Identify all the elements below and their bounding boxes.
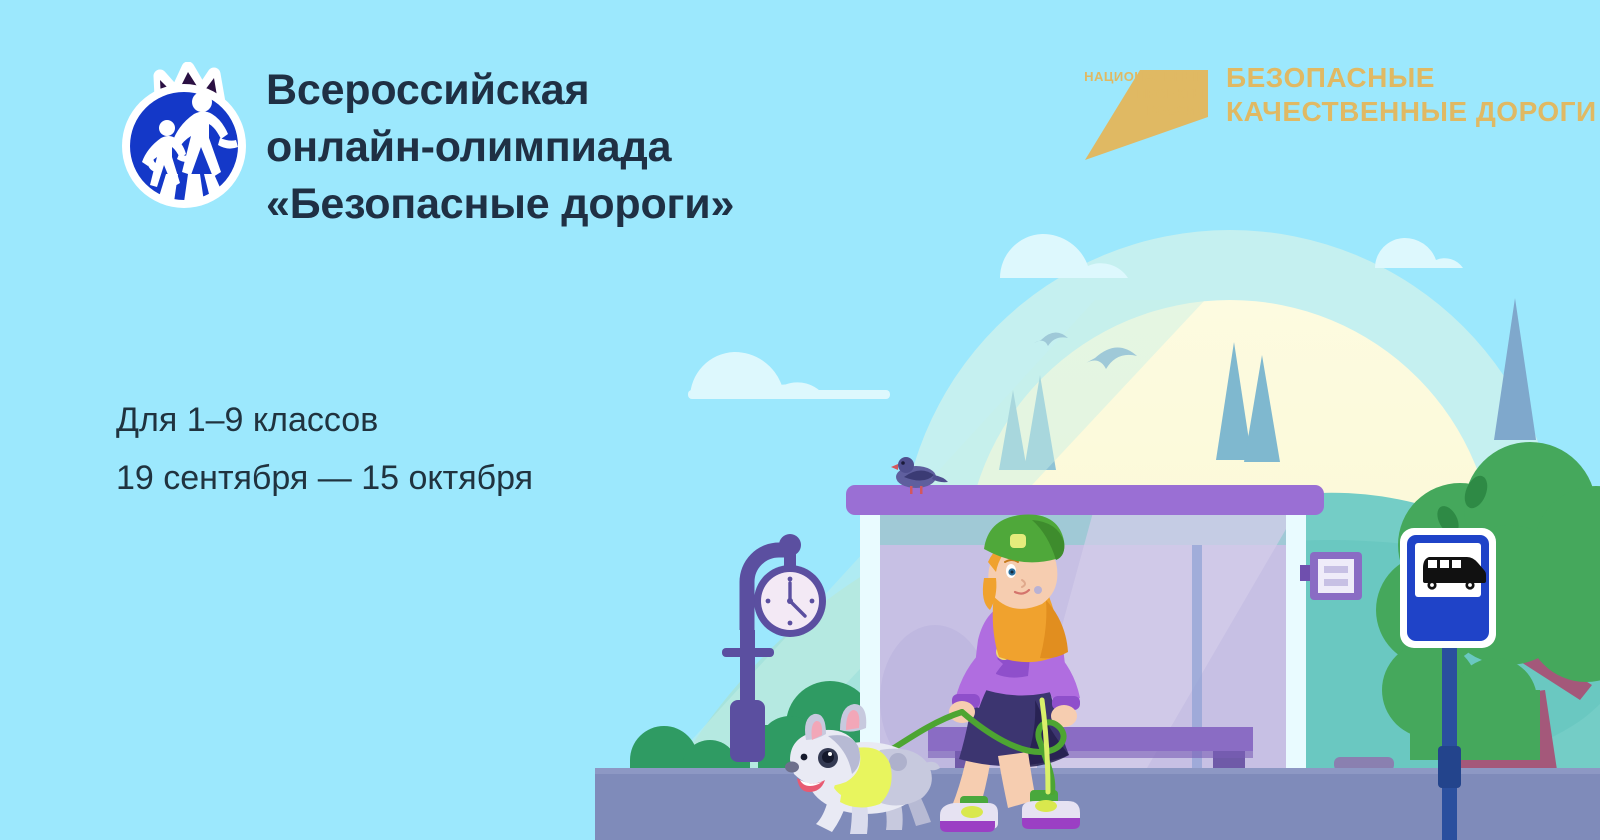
np-flag-line-2: ПРОЕКТЫ — [1137, 86, 1206, 101]
sign-pole-base — [1438, 746, 1461, 788]
shelter-roof — [846, 485, 1324, 515]
shelter-post-left — [860, 508, 880, 780]
np-program-line-2: КАЧЕСТВЕННЫЕ ДОРОГИ — [1226, 96, 1597, 127]
national-projects-logo: НАЦИОНАЛЬНЫЕ ПРОЕКТЫ РОССИИ БЕЗОПАСНЫЕ К… — [1040, 55, 1550, 170]
page-title: Всероссийская онлайн-олимпиада «Безопасн… — [266, 62, 886, 234]
np-program-line-1: БЕЗОПАСНЫЕ — [1226, 62, 1435, 93]
page-subtitle: Для 1–9 классов 19 сентября — 15 октября — [116, 392, 736, 508]
safe-roads-logo — [118, 62, 256, 217]
title-line-1: Всероссийская — [266, 62, 886, 119]
title-line-2: онлайн-олимпиада — [266, 119, 886, 176]
subtitle-dates: 19 сентября — 15 октября — [116, 450, 736, 508]
hat-patch — [1010, 534, 1026, 548]
timetable-line-2 — [1324, 579, 1348, 586]
subtitle-grades: Для 1–9 классов — [116, 392, 736, 450]
shelter-post-right — [1286, 508, 1306, 780]
dog-eye-left — [801, 754, 808, 761]
sign-pole — [1442, 640, 1457, 840]
timetable-line-1 — [1324, 566, 1348, 573]
title-line-3: «Безопасные дороги» — [266, 176, 886, 233]
promo-banner: Всероссийская онлайн-олимпиада «Безопасн… — [0, 0, 1600, 840]
np-flag-line-3: РОССИИ — [1147, 103, 1206, 118]
dog-nose — [785, 762, 799, 773]
np-flag-line-1: НАЦИОНАЛЬНЫЕ — [1084, 69, 1206, 84]
